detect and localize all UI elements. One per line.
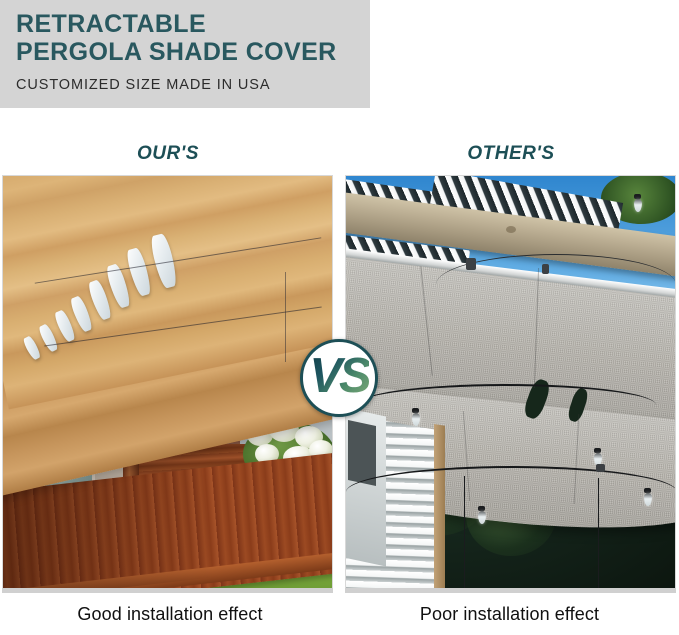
headline-line-1: RETRACTABLE [16, 11, 370, 37]
guide-wire-vertical [285, 272, 286, 362]
beam-knot [506, 226, 516, 233]
string-light-cable [356, 384, 656, 426]
caption-poor-installation: Poor installation effect [340, 604, 679, 625]
photo-bottom-strip-right [345, 588, 676, 593]
caption-good-installation: Good installation effect [0, 604, 340, 625]
string-light-cable [346, 466, 676, 518]
mesh-clip [596, 464, 605, 472]
string-light-drop-wire [464, 476, 465, 592]
photo-poor-installation [345, 175, 676, 592]
column-label-others: OTHER'S [343, 143, 679, 165]
mesh-clip [466, 258, 476, 270]
header-banner: RETRACTABLE PERGOLA SHADE COVER CUSTOMIZ… [0, 0, 370, 108]
vs-badge: VS [300, 339, 378, 417]
subheadline: CUSTOMIZED SIZE MADE IN USA [16, 77, 370, 93]
mesh-clip [542, 264, 549, 274]
photo-bottom-strip-left [2, 588, 333, 593]
column-label-ours: OUR'S [0, 143, 336, 165]
vs-label: VS [309, 352, 368, 405]
headline-line-2: PERGOLA SHADE COVER [16, 39, 370, 65]
photo-good-installation [2, 175, 333, 592]
shutter-window [348, 420, 376, 486]
string-light-drop-wire [598, 478, 599, 592]
